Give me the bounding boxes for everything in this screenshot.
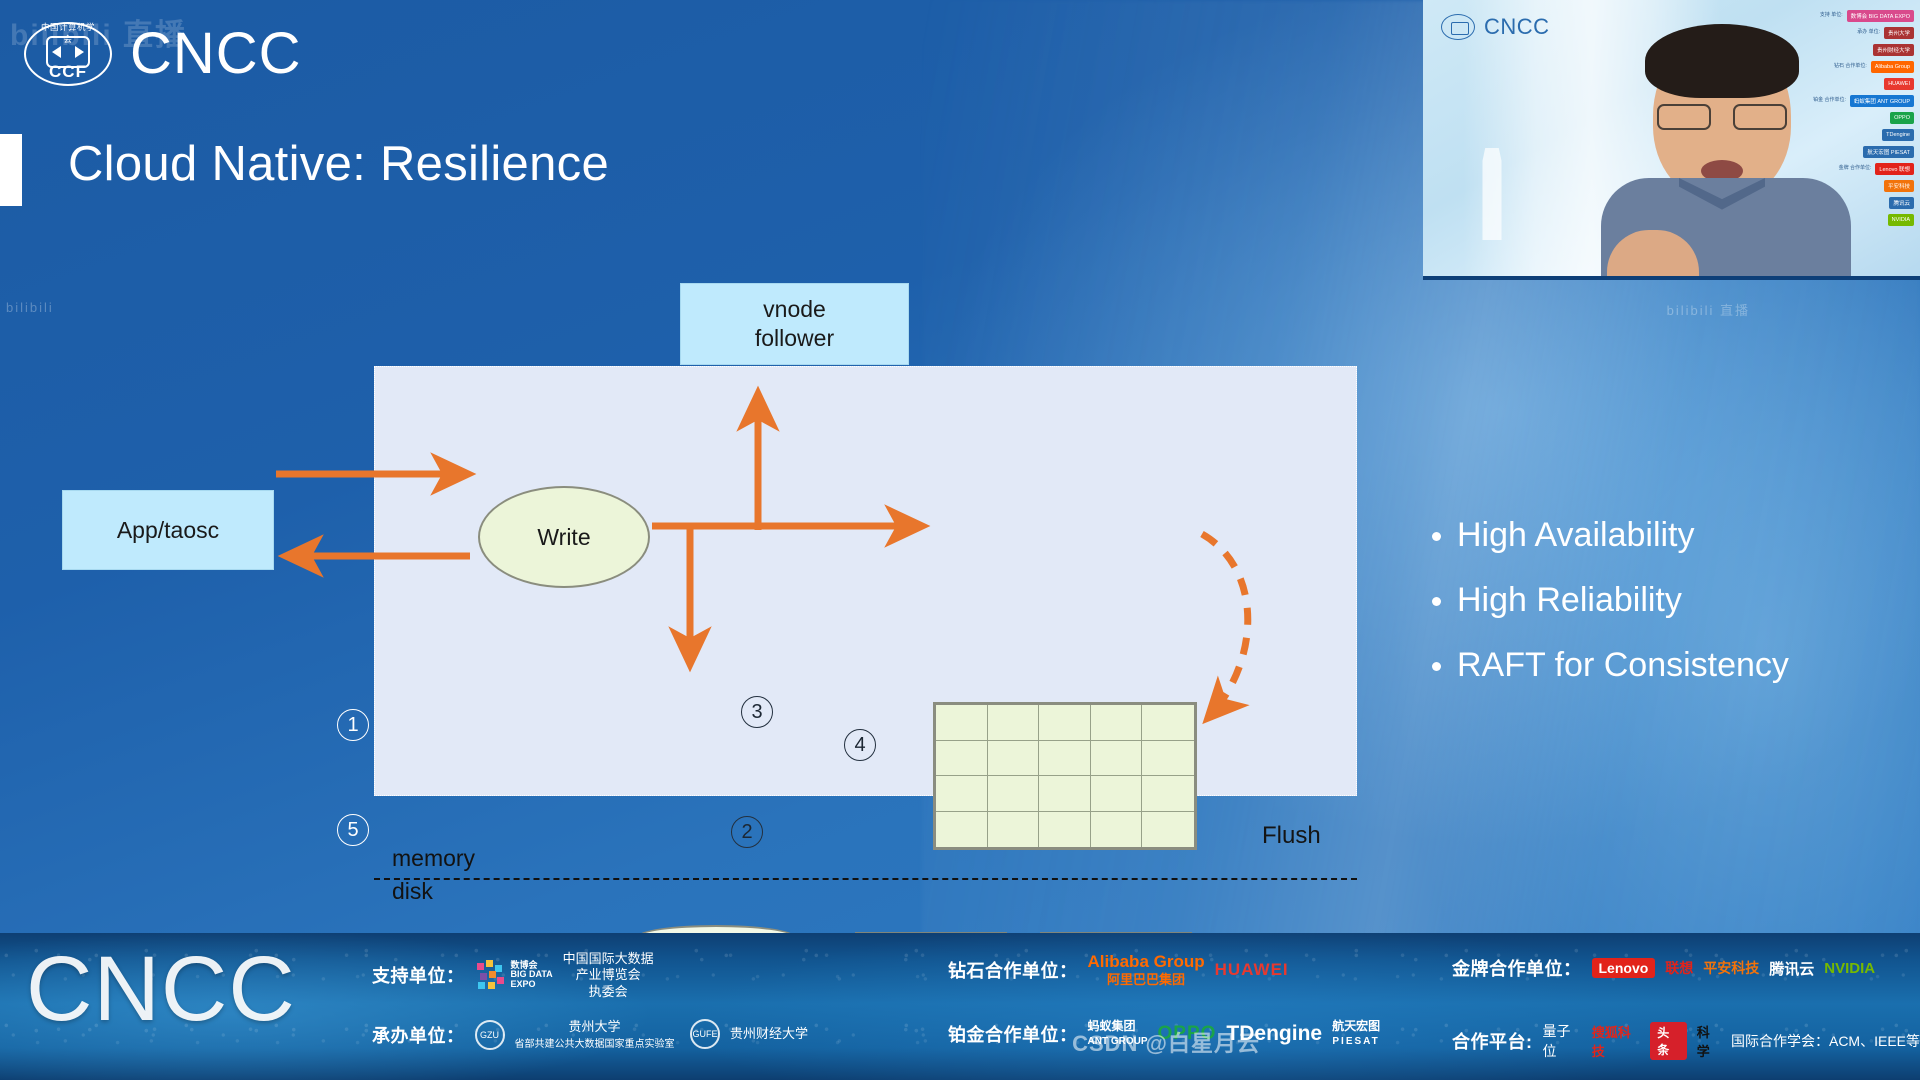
memory-label: memory bbox=[392, 845, 475, 872]
wc-sponsor-logo: HUAWEI bbox=[1884, 78, 1914, 90]
gzu-seal-icon: GZU bbox=[475, 1020, 505, 1050]
grid-cell bbox=[988, 705, 1040, 741]
bigdata-line2: BIG DATA bbox=[511, 969, 553, 979]
feature-bullet-list: High Availability High Reliability RAFT … bbox=[1432, 516, 1862, 711]
grid-cell bbox=[1142, 776, 1194, 812]
lenovo-logo: Lenovo bbox=[1592, 958, 1656, 978]
grid-cell bbox=[936, 705, 988, 741]
footer-support-label: 支持单位： bbox=[372, 962, 465, 988]
webcam-video-overlay[interactable]: CNCC 支持 单位:数博会 BIG DATA EXPO 承办 单位:贵州大学 … bbox=[1423, 0, 1920, 280]
footer-cncc-wordmark: CNCC bbox=[26, 943, 296, 1035]
sponsor-footer-bar: CNCC 支持单位： 数博会 BIG DATA EXPO 中国国际大数据 产业博… bbox=[0, 933, 1920, 1080]
write-node: Write bbox=[478, 486, 650, 588]
cn-line1: 贵州大学 bbox=[568, 1019, 620, 1034]
footer-group-diamond: 钻石合作单位： Alibaba Group 阿里巴巴集团 HUAWEI bbox=[948, 951, 1289, 989]
memory-table-grid bbox=[933, 702, 1197, 850]
flush-label: Flush bbox=[1262, 822, 1321, 850]
app-taosc-label: App/taosc bbox=[117, 516, 219, 545]
step-number-2: 2 bbox=[731, 816, 763, 848]
step-number-4: 4 bbox=[844, 729, 876, 761]
vnode-follower-line2: follower bbox=[755, 324, 834, 353]
toutiao-science-label: 科学 bbox=[1697, 1022, 1721, 1060]
huawei-logo: HUAWEI bbox=[1215, 960, 1289, 980]
grid-cell bbox=[936, 776, 988, 812]
wc-sponsor-logo: 航天宏图 PIESAT bbox=[1863, 146, 1914, 158]
grid-cell bbox=[1091, 741, 1143, 777]
grid-cell bbox=[988, 776, 1040, 812]
bullet-dot-icon bbox=[1432, 662, 1441, 671]
grid-cell bbox=[936, 812, 988, 848]
list-item: RAFT for Consistency bbox=[1432, 646, 1862, 685]
alibaba-en: Alibaba Group bbox=[1088, 952, 1205, 971]
tencent-cloud-logo: 腾讯云 bbox=[1769, 958, 1814, 979]
wc-sponsor-label: 铂金 合作单位: bbox=[1813, 98, 1846, 104]
bigdata-line1: 数博会 bbox=[511, 960, 538, 970]
footer-platform-label: 合作平台: bbox=[1452, 1028, 1533, 1054]
bullet-label: High Reliability bbox=[1457, 581, 1682, 620]
alibaba-logo: Alibaba Group 阿里巴巴集团 bbox=[1088, 951, 1205, 989]
wc-sponsor-label: 承办 单位: bbox=[1857, 30, 1880, 36]
wc-sponsor-label: 金牌 合作单位: bbox=[1839, 166, 1872, 172]
step-number-3: 3 bbox=[741, 696, 773, 728]
grid-cell bbox=[1091, 776, 1143, 812]
footer-gold-label: 金牌合作单位： bbox=[1452, 955, 1582, 981]
vnode-follower-line1: vnode bbox=[755, 295, 834, 324]
wc-sponsor-logo: 平安科技 bbox=[1884, 180, 1914, 192]
tdengine-logo: TDengine bbox=[1226, 1022, 1322, 1046]
grid-cell bbox=[1039, 741, 1091, 777]
bigdata-expo-logo: 数博会 BIG DATA EXPO bbox=[475, 960, 553, 990]
wc-sponsor-logo: TDengine bbox=[1882, 129, 1914, 141]
bullet-dot-icon bbox=[1432, 532, 1441, 541]
cn-line2: 省部共建公共大数据国家重点实验室 bbox=[515, 1039, 675, 1050]
wc-sponsor-logo: NVIDIA bbox=[1888, 214, 1914, 226]
footer-host-label: 承办单位： bbox=[372, 1022, 465, 1048]
grid-cell bbox=[988, 812, 1040, 848]
step-number-1: 1 bbox=[337, 709, 369, 741]
footer-group-host-2: GUFE 贵州财经大学 bbox=[690, 1019, 808, 1049]
ccf-logo-icon: 中国计算机学会 CCF bbox=[24, 18, 112, 90]
footer-group-platinum: 铂金合作单位： 蚂蚁集团 ANT GROUP OPPO TDengine 航天宏… bbox=[948, 1019, 1380, 1048]
grid-cell bbox=[936, 741, 988, 777]
ant-en: ANT GROUP bbox=[1088, 1036, 1148, 1047]
grid-cell bbox=[1091, 812, 1143, 848]
alibaba-cn: 阿里巴巴集团 bbox=[1107, 972, 1185, 987]
grid-cell bbox=[1039, 776, 1091, 812]
gzu-name: 贵州大学 省部共建公共大数据国家重点实验室 bbox=[515, 1019, 675, 1052]
gufe-name: 贵州财经大学 bbox=[730, 1026, 808, 1042]
write-node-label: Write bbox=[537, 524, 590, 551]
wc-sponsor-label: 支持 单位: bbox=[1820, 13, 1843, 19]
footer-platinum-label: 铂金合作单位： bbox=[948, 1021, 1078, 1047]
disk-label: disk bbox=[392, 878, 433, 905]
grid-cell bbox=[1142, 741, 1194, 777]
wc-sponsor-logo: 腾讯云 bbox=[1889, 197, 1914, 209]
list-item: High Availability bbox=[1432, 516, 1862, 555]
international-societies-label: 国际合作学会：ACM、IEEE等 bbox=[1731, 1031, 1920, 1051]
list-item: High Reliability bbox=[1432, 581, 1862, 620]
bullet-label: RAFT for Consistency bbox=[1457, 646, 1789, 685]
ant-cn: 蚂蚁集团 bbox=[1088, 1019, 1136, 1033]
cn-line2: 产业博览会 bbox=[576, 967, 641, 982]
nvidia-logo: NVIDIA bbox=[1824, 960, 1875, 977]
wc-sponsor-logo: Alibaba Group bbox=[1871, 61, 1914, 73]
cn-line3: 执委会 bbox=[589, 984, 628, 999]
glasses-icon bbox=[1657, 104, 1787, 126]
title-accent-bar bbox=[0, 134, 22, 206]
wc-sponsor-label: 钻石 合作单位: bbox=[1834, 64, 1867, 70]
grid-cell bbox=[1039, 705, 1091, 741]
cncc-wordmark: CNCC bbox=[130, 25, 302, 83]
footer-group-platform: 合作平台: 量子位 搜狐科技 头条 科学 国际合作学会：ACM、IEEE等 bbox=[1452, 1021, 1920, 1061]
page-title: Cloud Native: Resilience bbox=[68, 136, 609, 192]
wc-sponsor-logo: 数博会 BIG DATA EXPO bbox=[1847, 10, 1914, 22]
gufe-seal-icon: GUFE bbox=[690, 1019, 720, 1049]
bullet-label: High Availability bbox=[1457, 516, 1695, 555]
ccf-logo-abbr: CCF bbox=[24, 62, 112, 82]
toutiao-logo: 头条 bbox=[1650, 1022, 1686, 1060]
slide-header: 中国计算机学会 CCF CNCC bbox=[0, 0, 1360, 108]
piesat-logo: 航天宏图 PIESAT bbox=[1332, 1019, 1380, 1048]
ccf-ring-icon bbox=[1441, 14, 1475, 40]
grid-cell bbox=[1091, 705, 1143, 741]
footer-group-host: 承办单位： GZU 贵州大学 省部共建公共大数据国家重点实验室 bbox=[372, 1019, 675, 1052]
pingan-logo: 平安科技 bbox=[1703, 958, 1759, 978]
memory-disk-divider bbox=[374, 878, 1357, 880]
cn-line1: 中国国际大数据 bbox=[563, 951, 654, 966]
step-number-5: 5 bbox=[337, 814, 369, 846]
bigdata-cn-name: 中国国际大数据 产业博览会 执委会 bbox=[563, 951, 654, 1000]
oppo-logo: OPPO bbox=[1158, 1023, 1217, 1045]
wc-sponsor-logo: 贵州财经大学 bbox=[1873, 44, 1914, 56]
grid-cell bbox=[1142, 705, 1194, 741]
webcam-sponsor-strip: 支持 单位:数博会 BIG DATA EXPO 承办 单位:贵州大学 贵州财经大… bbox=[1828, 10, 1914, 226]
piesat-cn: 航天宏图 bbox=[1332, 1019, 1380, 1033]
webcam-cncc-logo: CNCC bbox=[1441, 14, 1550, 40]
vnode-follower-box: vnode follower bbox=[680, 283, 909, 365]
footer-group-support: 支持单位： 数博会 BIG DATA EXPO 中国国际大数据 产业博览会 执委… bbox=[372, 951, 654, 1000]
grid-cell bbox=[1039, 812, 1091, 848]
bigdata-line3: EXPO bbox=[511, 979, 536, 989]
grid-cell bbox=[1142, 812, 1194, 848]
wc-sponsor-logo: 贵州大学 bbox=[1884, 27, 1914, 39]
webcam-brand-label: CNCC bbox=[1484, 14, 1550, 40]
footer-group-gold: 金牌合作单位： Lenovo 联想 平安科技 腾讯云 NVIDIA bbox=[1452, 955, 1875, 981]
sohu-tech-logo: 搜狐科技 bbox=[1592, 1022, 1641, 1060]
grid-cell bbox=[988, 741, 1040, 777]
qbitai-logo: 量子位 bbox=[1543, 1021, 1582, 1061]
wc-sponsor-logo: 蚂蚁集团 ANT GROUP bbox=[1850, 95, 1914, 107]
bullet-dot-icon bbox=[1432, 597, 1441, 606]
architecture-diagram: vnode follower App/taosc Write memory di… bbox=[0, 250, 1400, 890]
wc-sponsor-logo: OPPO bbox=[1890, 112, 1914, 124]
ant-group-logo: 蚂蚁集团 ANT GROUP bbox=[1088, 1019, 1148, 1048]
piesat-en: PIESAT bbox=[1332, 1036, 1379, 1047]
footer-diamond-label: 钻石合作单位： bbox=[948, 957, 1078, 983]
app-taosc-box: App/taosc bbox=[62, 490, 274, 570]
wc-sponsor-logo: Lenovo 联想 bbox=[1875, 163, 1914, 175]
lenovo-cn: 联想 bbox=[1665, 958, 1693, 978]
